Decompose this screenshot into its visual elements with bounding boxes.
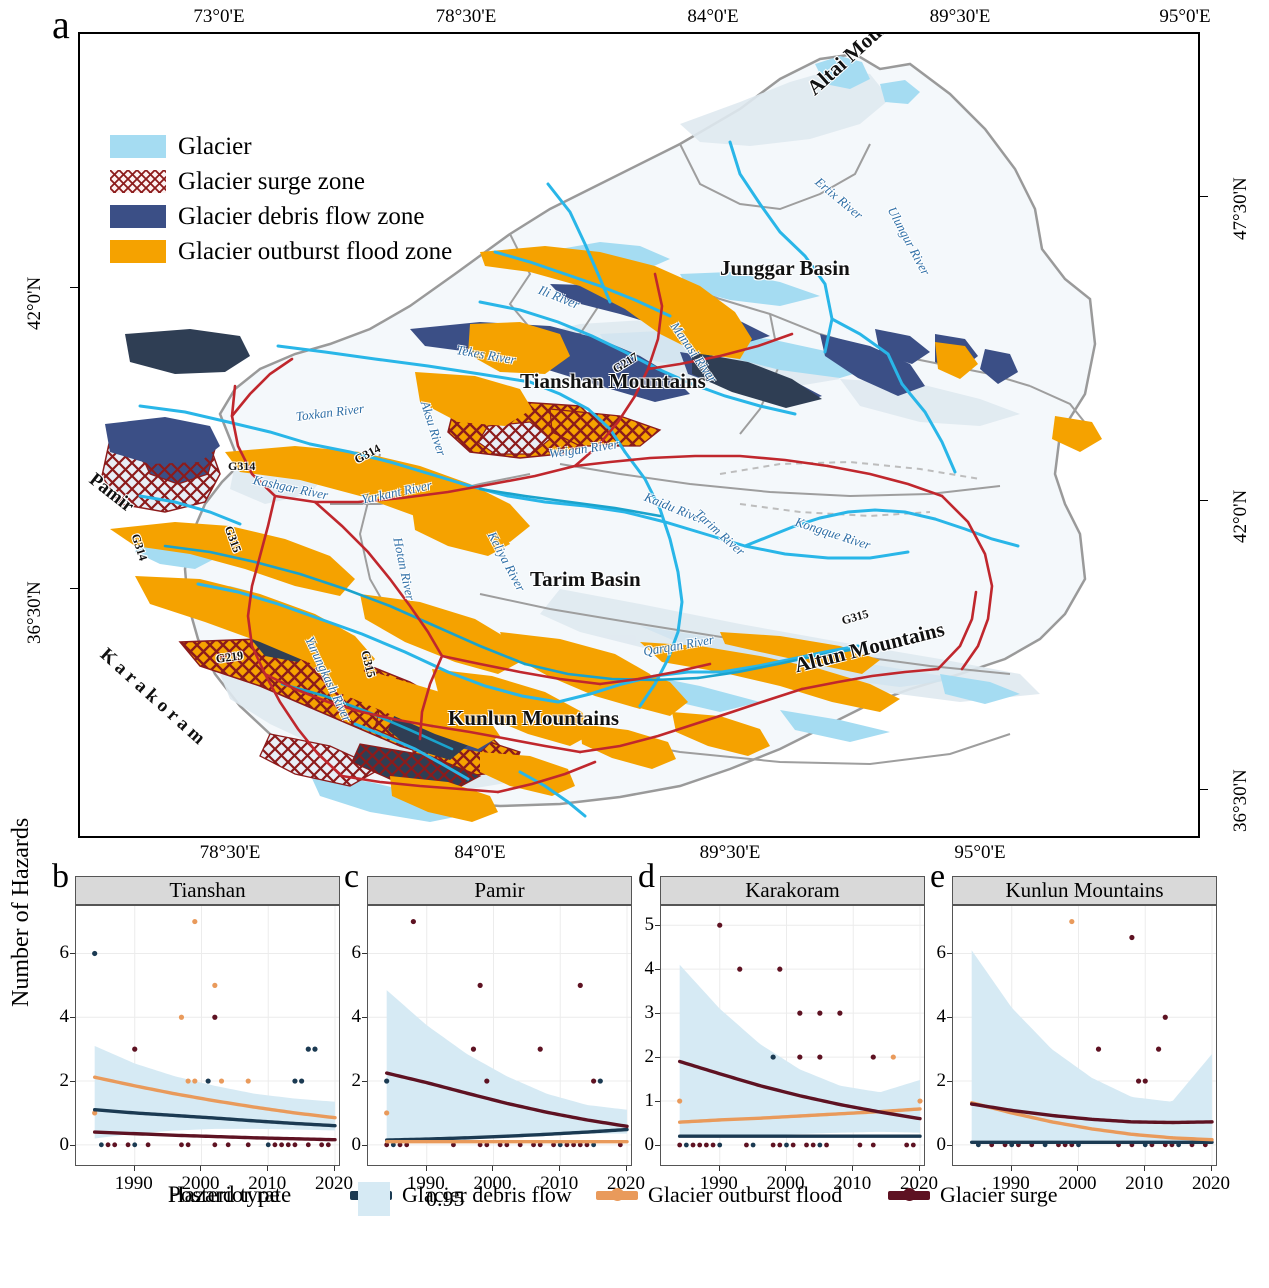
data-point-zero (771, 1143, 776, 1148)
data-point-zero (186, 1142, 191, 1147)
plot-svg (368, 906, 632, 1166)
y-tick-mark (362, 1081, 367, 1082)
data-point (1156, 1047, 1161, 1052)
data-point-zero (684, 1143, 689, 1148)
x-tick-mark (492, 1166, 493, 1171)
axis-tick-right (1199, 789, 1208, 790)
glacier-swatch (110, 135, 166, 158)
y-tick-mark (947, 1081, 952, 1082)
x-tick-mark (134, 1166, 135, 1171)
data-point (292, 1078, 297, 1083)
map-legend-item-glacier-debris-flow-zone: Glacier debris flow zone (110, 199, 452, 234)
x-tick-mark (426, 1166, 427, 1171)
data-point (797, 1054, 802, 1059)
data-point-zero (286, 1142, 291, 1147)
data-point (1096, 1047, 1101, 1052)
data-point (677, 1098, 682, 1103)
data-point (1129, 935, 1134, 940)
data-point (817, 1011, 822, 1016)
x-tick-mark (334, 1166, 335, 1171)
data-point (212, 983, 217, 988)
data-point (471, 1047, 476, 1052)
data-point-zero (811, 1143, 816, 1148)
data-point-zero (691, 1143, 696, 1148)
data-point (312, 1047, 317, 1052)
x-tick-mark (785, 1166, 786, 1171)
axis-label-lat-right: 42°0'N (1230, 490, 1252, 543)
map-legend: Glacier Glacier surge zone (110, 129, 452, 269)
y-tick-mark (947, 1017, 952, 1018)
data-point (179, 1015, 184, 1020)
data-point-zero (212, 1142, 217, 1147)
x-tick-mark (719, 1166, 720, 1171)
y-tick-label: 0 (628, 1134, 654, 1156)
y-tick-mark (70, 953, 75, 954)
data-point-zero (126, 1142, 131, 1147)
data-point-zero (784, 1143, 789, 1148)
outburst-swatch (110, 240, 166, 263)
data-point (1143, 1078, 1148, 1083)
x-tick-mark (267, 1166, 268, 1171)
data-point-zero (904, 1143, 909, 1148)
data-point (871, 1054, 876, 1059)
data-point (306, 1047, 311, 1052)
data-point-zero (106, 1142, 111, 1147)
x-tick-label: 2010 (1125, 1173, 1163, 1195)
plot-svg (661, 906, 925, 1166)
legend-label-posterior-rate: 0.95 (426, 1186, 465, 1212)
x-tick-mark (559, 1166, 560, 1171)
y-tick-mark (362, 953, 367, 954)
data-point (837, 1011, 842, 1016)
data-point-zero (704, 1143, 709, 1148)
data-point-zero (132, 1142, 137, 1147)
data-point (1163, 1015, 1168, 1020)
map-legend-label: Glacier surge zone (178, 168, 365, 196)
data-point (192, 1078, 197, 1083)
data-point (192, 919, 197, 924)
facet-tianshan: Tianshan 02461990200020102020 (75, 876, 340, 1166)
surge-hatch-icon (110, 170, 166, 193)
posterior-band (387, 990, 627, 1140)
data-point (478, 983, 483, 988)
x-tick-mark (1144, 1166, 1145, 1171)
data-point (891, 1054, 896, 1059)
facet-karakoram: Karakoram 0123451990200020102020 (660, 876, 925, 1166)
data-point-zero (871, 1143, 876, 1148)
legend-band-swatch (358, 1182, 390, 1216)
y-tick-mark (947, 953, 952, 954)
legend-line-outburst-flood (596, 1191, 638, 1200)
map-legend-label: Glacier outburst flood zone (178, 238, 452, 266)
x-tick-mark (626, 1166, 627, 1171)
posterior-band (972, 950, 1212, 1143)
x-tick-label: 1990 (115, 1173, 153, 1195)
data-point-zero (266, 1142, 271, 1147)
data-point (538, 1047, 543, 1052)
y-tick-label: 0 (920, 1134, 946, 1156)
data-point (219, 1078, 224, 1083)
y-tick-label: 2 (628, 1046, 654, 1068)
y-tick-mark (70, 1017, 75, 1018)
data-point (384, 1078, 389, 1083)
map-canvas[interactable]: Junggar Basin Tarim Basin Altai Mountain… (78, 32, 1200, 838)
data-point (1136, 1078, 1141, 1083)
data-point (598, 1078, 603, 1083)
data-point-zero (804, 1143, 809, 1148)
panel-letter-c: c (344, 858, 359, 896)
axis-label-lon-top: 78°30'E (436, 6, 497, 28)
data-point-zero (326, 1142, 331, 1147)
legend-label-surge: Glacier surge (940, 1182, 1058, 1208)
data-point (771, 1054, 776, 1059)
plot-area-pamir[interactable] (367, 906, 632, 1166)
data-point-zero (246, 1142, 251, 1147)
axis-label-lat-left: 42°0'N (24, 277, 46, 330)
data-point (717, 923, 722, 928)
data-point (797, 1011, 802, 1016)
data-point (246, 1078, 251, 1083)
y-tick-label: 5 (628, 914, 654, 936)
data-point-zero (179, 1142, 184, 1147)
y-tick-mark (947, 1145, 952, 1146)
data-point-zero (717, 1143, 722, 1148)
y-tick-mark (655, 1013, 660, 1014)
data-point (299, 1078, 304, 1083)
y-tick-label: 2 (920, 1070, 946, 1092)
plot-area-kunlun[interactable] (952, 906, 1217, 1166)
legend-line-surge (888, 1191, 930, 1200)
y-tick-label: 3 (628, 1002, 654, 1024)
map-panel: a 73°0'E 78°30'E 84°0'E 89°30'E 95°0'E 7… (0, 0, 1269, 852)
data-point-zero (677, 1143, 682, 1148)
data-point-zero (319, 1142, 324, 1147)
plot-svg (953, 906, 1217, 1166)
y-tick-label: 6 (920, 942, 946, 964)
data-point (186, 1078, 191, 1083)
data-point-zero (99, 1142, 104, 1147)
axis-label-lat-left: 36°30'N (24, 581, 46, 644)
data-point (484, 1078, 489, 1083)
data-point (817, 1054, 822, 1059)
panel-letter-b: b (52, 858, 69, 896)
data-point (92, 951, 97, 956)
y-axis-title: Number of Hazards (8, 818, 35, 1007)
data-point-zero (273, 1142, 278, 1147)
x-tick-label: 2020 (1192, 1173, 1230, 1195)
data-point-zero (744, 1143, 749, 1148)
data-point (1069, 919, 1074, 924)
data-point (132, 1047, 137, 1052)
data-point-zero (791, 1143, 796, 1148)
legend-label-outburst-flood: Glacier outburst flood (648, 1182, 842, 1208)
data-point-zero (112, 1142, 117, 1147)
panel-letter-e: e (930, 858, 945, 896)
map-legend-item-glacier-surge-zone: Glacier surge zone (110, 164, 452, 199)
charts-row: Number of Hazards b c d e Tianshan 02461… (0, 852, 1269, 1288)
data-point (578, 983, 583, 988)
debris-swatch (110, 205, 166, 228)
x-tick-mark (1011, 1166, 1012, 1171)
surge-swatch (110, 170, 166, 193)
y-tick-mark (655, 925, 660, 926)
y-tick-label: 4 (628, 958, 654, 980)
data-point-zero (711, 1143, 716, 1148)
axis-label-lat-right: 36°30'N (1230, 769, 1252, 832)
facet-pamir: Pamir 02461990200020102020 (367, 876, 632, 1166)
facet-title-pamir: Pamir (367, 876, 632, 906)
map-legend-item-glacier-outburst-flood-zone: Glacier outburst flood zone (110, 234, 452, 269)
y-tick-mark (655, 1145, 660, 1146)
y-tick-label: 6 (335, 942, 361, 964)
y-tick-mark (362, 1017, 367, 1018)
facet-kunlun: Kunlun Mountains 02461990200020102020 (952, 876, 1217, 1166)
y-tick-label: 1 (628, 1090, 654, 1112)
map-legend-item-glacier: Glacier (110, 129, 452, 164)
data-point (212, 1015, 217, 1020)
y-tick-mark (655, 1057, 660, 1058)
map-legend-label: Glacier (178, 133, 252, 161)
y-tick-label: 4 (43, 1006, 69, 1028)
x-tick-label: 2020 (315, 1173, 353, 1195)
y-tick-mark (70, 1145, 75, 1146)
data-point-zero (751, 1143, 756, 1148)
data-point (206, 1078, 211, 1083)
axis-tick-right (1199, 500, 1208, 501)
panel-letter-d: d (638, 858, 655, 896)
axis-label-lon-top: 89°30'E (930, 6, 991, 28)
data-point-zero (777, 1143, 782, 1148)
map-legend-label: Glacier debris flow zone (178, 203, 424, 231)
axis-label-lon-top: 84°0'E (687, 6, 738, 28)
axis-tick-right (1199, 196, 1208, 197)
plot-area-tianshan[interactable] (75, 906, 340, 1166)
data-point (591, 1078, 596, 1083)
data-point (411, 919, 416, 924)
data-point-zero (817, 1143, 822, 1148)
panel-letter-a: a (52, 5, 70, 45)
data-point (777, 967, 782, 972)
x-tick-mark (852, 1166, 853, 1171)
axis-label-lon-top: 95°0'E (1159, 6, 1210, 28)
x-tick-mark (1211, 1166, 1212, 1171)
y-tick-label: 0 (43, 1134, 69, 1156)
facet-title-tianshan: Tianshan (75, 876, 340, 906)
axis-label-lat-right: 47°30'N (1230, 177, 1252, 240)
data-point-zero (279, 1142, 284, 1147)
y-tick-mark (362, 1145, 367, 1146)
x-tick-mark (919, 1166, 920, 1171)
posterior-rate-legend-title: Posterior rate (168, 1182, 291, 1208)
data-point-zero (306, 1142, 311, 1147)
y-tick-label: 2 (335, 1070, 361, 1092)
plot-area-karakoram[interactable] (660, 906, 925, 1166)
data-point (917, 1098, 922, 1103)
facet-title-karakoram: Karakoram (660, 876, 925, 906)
y-tick-label: 4 (920, 1006, 946, 1028)
data-point-zero (226, 1142, 231, 1147)
y-tick-mark (655, 1101, 660, 1102)
series-line (95, 1132, 335, 1140)
y-tick-label: 4 (335, 1006, 361, 1028)
data-point-zero (146, 1142, 151, 1147)
data-point-zero (293, 1142, 298, 1147)
y-tick-mark (70, 1081, 75, 1082)
data-point (737, 967, 742, 972)
y-tick-label: 0 (335, 1134, 361, 1156)
y-tick-label: 2 (43, 1070, 69, 1092)
data-point (384, 1110, 389, 1115)
facet-title-kunlun: Kunlun Mountains (952, 876, 1217, 906)
axis-label-lon-top: 73°0'E (193, 6, 244, 28)
data-point-zero (697, 1143, 702, 1148)
data-point-zero (911, 1143, 916, 1148)
y-tick-mark (655, 969, 660, 970)
y-tick-label: 6 (43, 942, 69, 964)
data-point-zero (824, 1143, 829, 1148)
plot-svg (76, 906, 340, 1166)
x-tick-label: 2000 (1058, 1173, 1096, 1195)
x-tick-mark (200, 1166, 201, 1171)
data-point-zero (858, 1143, 863, 1148)
x-tick-mark (1077, 1166, 1078, 1171)
